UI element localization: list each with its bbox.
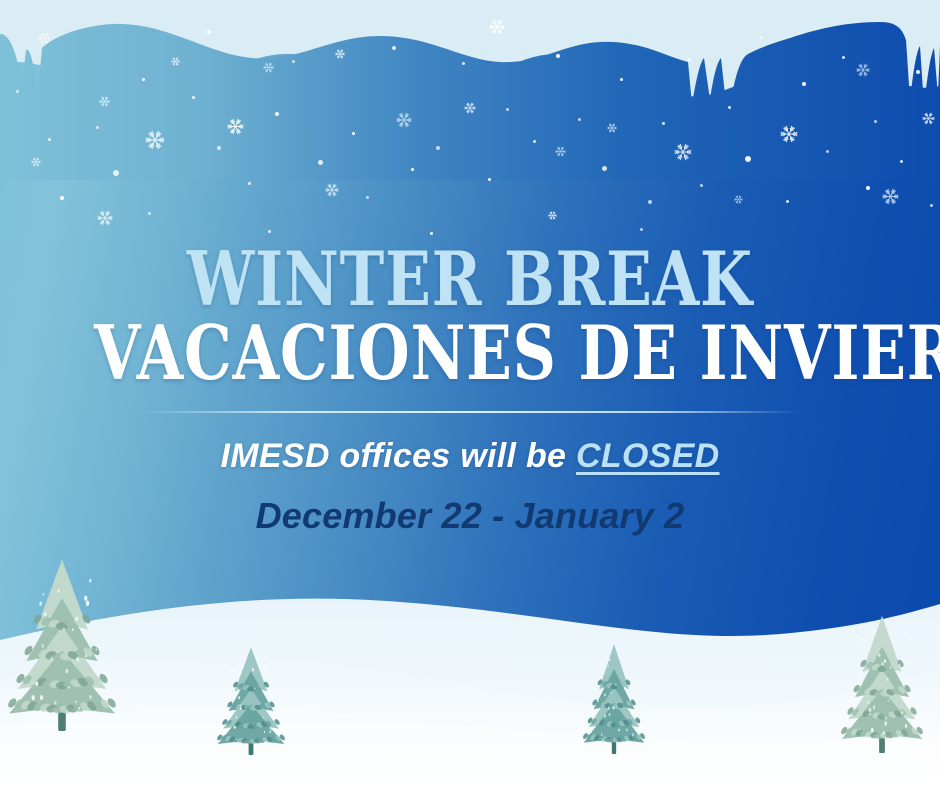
snow-dot xyxy=(930,204,933,207)
snowflake-icon xyxy=(674,143,692,165)
snowflake-icon xyxy=(780,125,798,147)
title-vacaciones-de-invierno: VACACIONES DE INVIERNO xyxy=(94,317,846,389)
snowflake-icon xyxy=(734,192,743,208)
tree-right-large xyxy=(841,613,923,753)
snow-dot xyxy=(648,200,652,204)
snow-dot xyxy=(745,156,751,162)
snow-dot xyxy=(392,46,396,50)
snow-dot xyxy=(556,54,560,58)
snow-dot xyxy=(248,182,251,185)
snowflake-icon xyxy=(548,208,557,224)
snow-dot xyxy=(192,96,195,99)
snow-dot xyxy=(436,146,440,150)
snow-dot xyxy=(688,58,691,61)
snow-dot xyxy=(620,78,623,81)
tree-left-small xyxy=(217,645,285,755)
snow-dot xyxy=(462,62,465,65)
snowflake-icon xyxy=(335,47,345,63)
snow-dot xyxy=(411,168,414,171)
winter-break-poster: WINTER BREAK VACACIONES DE INVIERNO IMES… xyxy=(0,0,940,788)
snow-dot xyxy=(113,170,119,176)
headline-divider xyxy=(140,411,800,413)
snow-dot xyxy=(802,82,806,86)
snow-dot xyxy=(16,90,19,93)
tree-center xyxy=(583,642,645,754)
snowflake-icon xyxy=(396,112,412,132)
snow-dot xyxy=(640,228,643,231)
snowflake-icon xyxy=(171,54,180,70)
snowflake-icon xyxy=(464,102,476,118)
snow-dot xyxy=(217,146,221,150)
snow-dot xyxy=(148,212,151,215)
snow-dot xyxy=(275,112,279,116)
snow-dot xyxy=(866,186,870,190)
sky-snow-band xyxy=(0,0,940,180)
snowflake-icon xyxy=(99,95,110,111)
closure-notice-prefix: IMESD offices will be xyxy=(221,437,577,475)
snowflake-icon xyxy=(263,61,274,77)
snow-dot xyxy=(760,36,763,39)
snow-dot xyxy=(842,56,845,59)
snowflake-icon xyxy=(97,210,113,230)
tree-left-large xyxy=(8,556,116,731)
snowflake-icon xyxy=(38,32,51,49)
snow-dot xyxy=(60,196,64,200)
snowflake-icon xyxy=(882,188,899,209)
snowflake-icon xyxy=(856,63,870,81)
snow-dot xyxy=(207,30,211,34)
snow-dot xyxy=(662,122,665,125)
snow-dot xyxy=(578,118,581,121)
snow-dot xyxy=(728,106,731,109)
snow-dot xyxy=(48,138,51,141)
snow-dot xyxy=(96,126,99,129)
snow-dot xyxy=(268,230,271,233)
snowflake-icon xyxy=(31,155,41,171)
snowflake-icon xyxy=(489,19,505,39)
closure-notice: IMESD offices will be CLOSED xyxy=(0,437,940,476)
snow-dot xyxy=(916,70,920,74)
snow-dot xyxy=(533,140,536,143)
snowflake-icon xyxy=(607,121,617,137)
snow-dot xyxy=(292,60,295,63)
snow-ground xyxy=(0,528,940,788)
snow-dot xyxy=(366,196,369,199)
snowflake-icon xyxy=(227,118,244,139)
headline-block: WINTER BREAK VACACIONES DE INVIERNO xyxy=(0,243,940,389)
snowflake-icon xyxy=(145,130,165,154)
snow-dot xyxy=(142,78,145,81)
snow-dot xyxy=(874,120,877,123)
snow-dot xyxy=(700,184,703,187)
snow-dot xyxy=(352,132,355,135)
snowflake-icon xyxy=(922,112,935,129)
snowflake-icon xyxy=(325,183,339,201)
snow-dot xyxy=(826,150,829,153)
snow-dot xyxy=(488,178,491,181)
snow-dot xyxy=(506,108,509,111)
title-winter-break: WINTER BREAK xyxy=(94,243,846,315)
snowflake-icon xyxy=(555,145,566,161)
snow-dot xyxy=(318,160,323,165)
snow-dot xyxy=(786,200,789,203)
snow-dot xyxy=(602,166,607,171)
closed-emphasis: CLOSED xyxy=(576,437,719,475)
snow-dot xyxy=(900,160,903,163)
